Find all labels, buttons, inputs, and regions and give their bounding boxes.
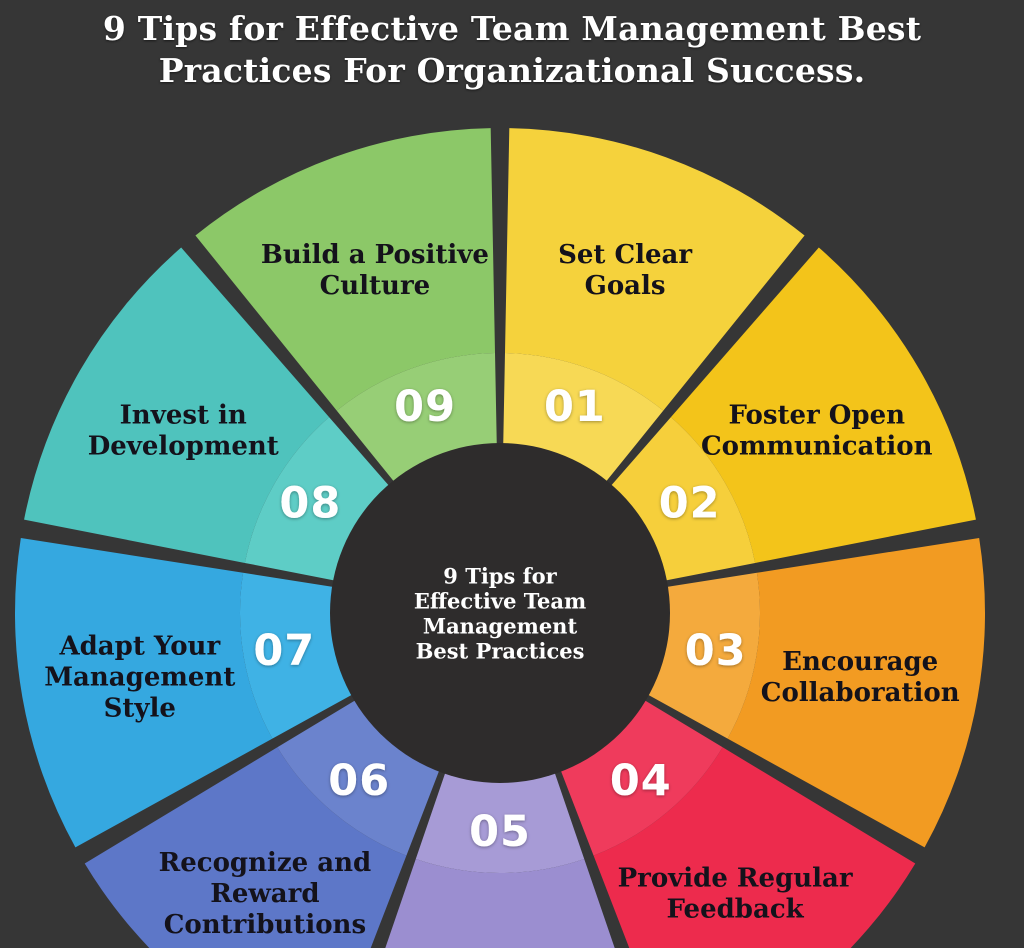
segment-number-07: 07	[253, 626, 315, 676]
wheel-diagram: Set ClearGoalsFoster OpenCommunicationEn…	[0, 0, 1024, 948]
segment-number-05: 05	[469, 807, 531, 857]
segment-number-04: 04	[610, 756, 672, 806]
segment-label-03: EncourageCollaboration	[761, 647, 960, 708]
segment-number-06: 06	[328, 756, 390, 806]
segment-number-08: 08	[279, 479, 341, 529]
segment-number-01: 01	[544, 382, 606, 432]
segment-number-02: 02	[659, 479, 721, 529]
infographic-page: 9 Tips for Effective Team Management Bes…	[0, 0, 1024, 948]
segment-number-09: 09	[394, 382, 456, 432]
segment-label-02: Foster OpenCommunication	[701, 401, 933, 462]
segment-number-03: 03	[685, 626, 747, 676]
wheel-svg: Set ClearGoalsFoster OpenCommunicationEn…	[0, 0, 1024, 948]
